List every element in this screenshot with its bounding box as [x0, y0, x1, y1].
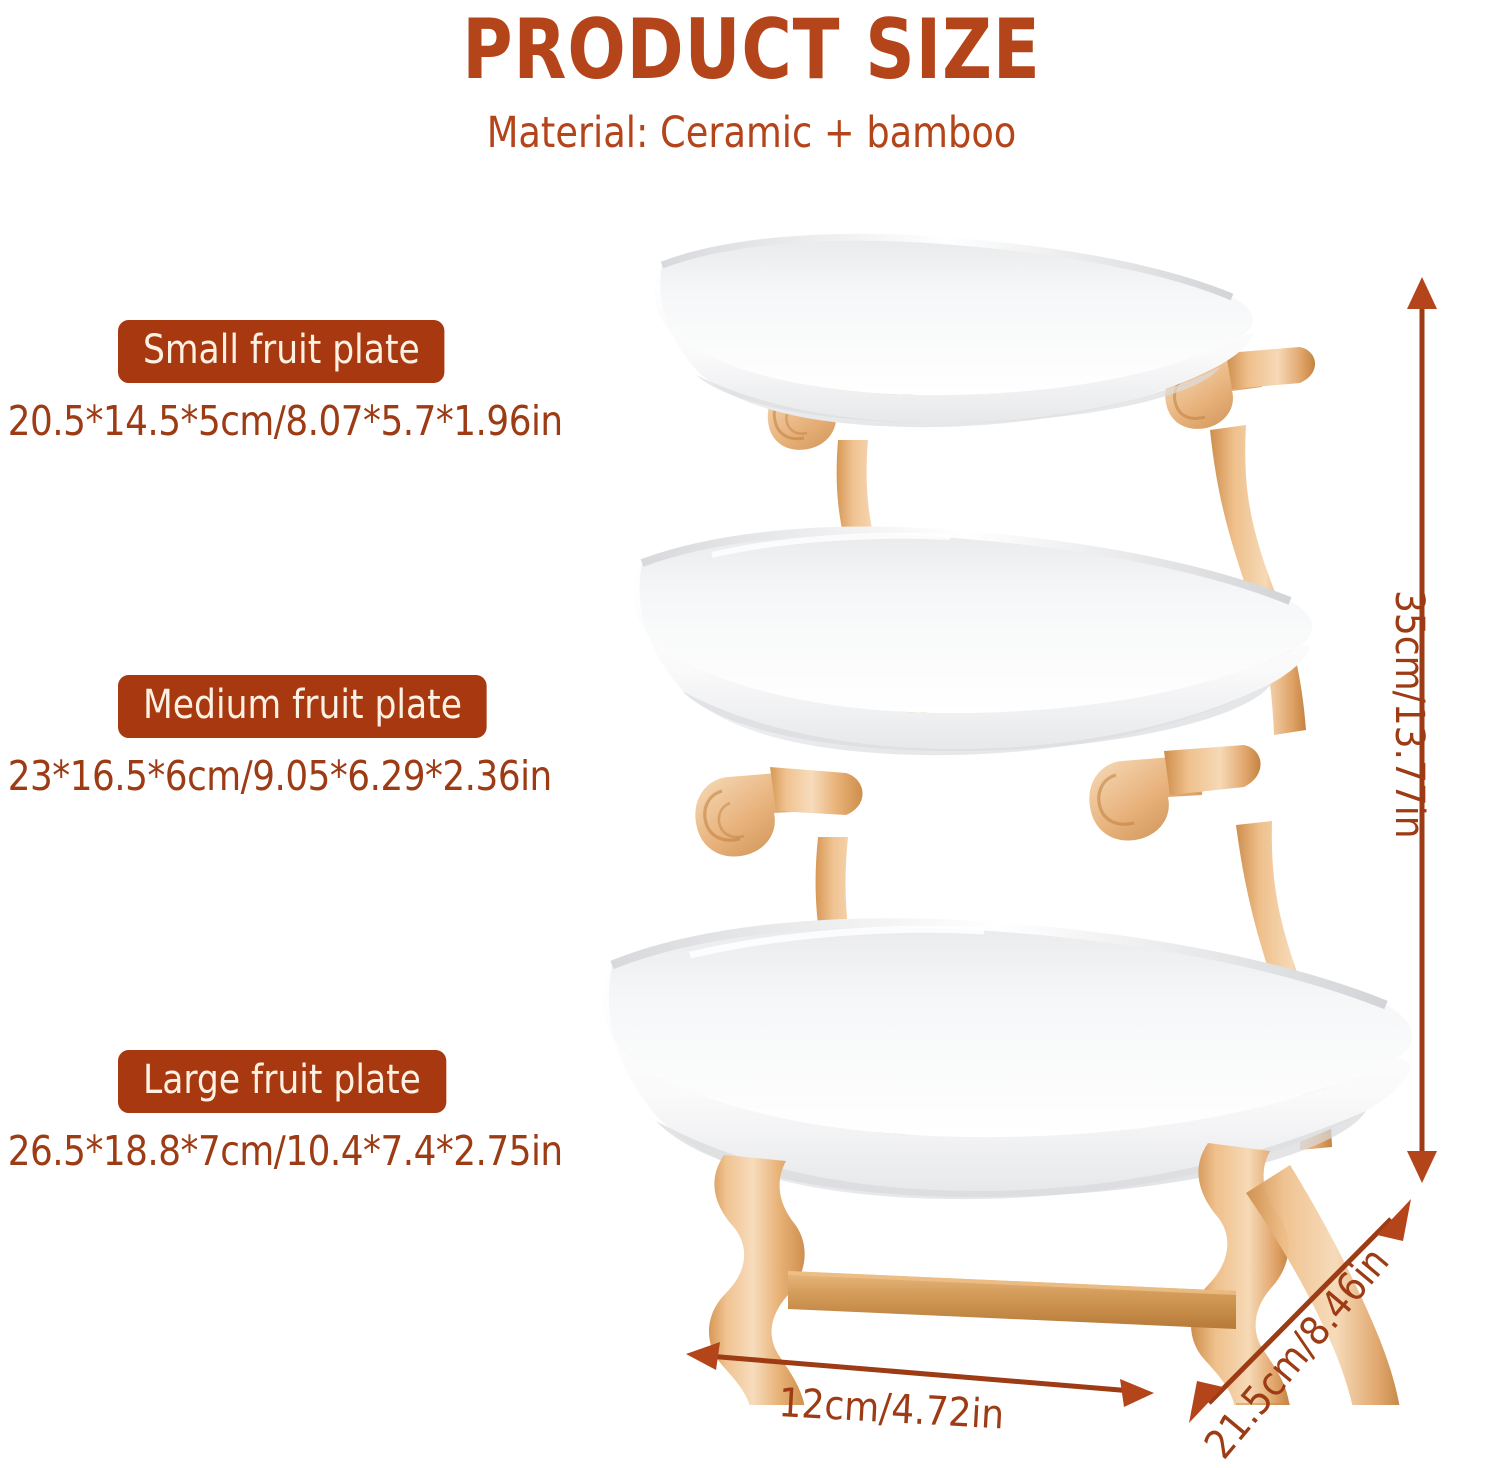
spec-small: Small fruit plate 20.5*14.5*5cm/8.07*5.7…	[0, 320, 580, 445]
badge-large-fruit-plate: Large fruit plate	[118, 1050, 446, 1113]
height-arrowhead-bottom	[1407, 1151, 1437, 1183]
dimensions-medium: 23*16.5*6cm/9.05*6.29*2.36in	[0, 752, 552, 800]
tier-medium	[634, 531, 1312, 857]
arm-bar-top-right	[1226, 347, 1315, 389]
arm-mid-right	[1089, 745, 1260, 841]
width-arrow-line	[708, 1356, 1132, 1391]
depth-arrowhead-upper	[1377, 1199, 1411, 1241]
infographic-canvas: PRODUCT SIZE Material: Ceramic + bamboo …	[0, 0, 1503, 1456]
arm-bar-mid-right	[1164, 745, 1261, 795]
badge-small-fruit-plate: Small fruit plate	[118, 320, 445, 383]
material-subtitle: Material: Ceramic + bamboo	[38, 108, 1466, 158]
page-title: PRODUCT SIZE	[60, 8, 1443, 91]
tier-small	[655, 237, 1315, 450]
dimension-arrow-depth	[1175, 1185, 1425, 1435]
cross-rail	[788, 1271, 1236, 1329]
height-arrowhead-top	[1407, 277, 1437, 309]
badge-row-medium: Medium fruit plate	[0, 675, 569, 738]
badge-row-large: Large fruit plate	[0, 1050, 580, 1113]
width-arrowhead-left	[686, 1342, 720, 1370]
dimensions-small: 20.5*14.5*5cm/8.07*5.7*1.96in	[0, 397, 563, 445]
spec-medium: Medium fruit plate 23*16.5*6cm/9.05*6.29…	[0, 675, 569, 800]
width-arrowhead-right	[1120, 1379, 1154, 1407]
badge-row-small: Small fruit plate	[0, 320, 580, 383]
arm-bar-mid-left	[770, 767, 863, 815]
badge-medium-fruit-plate: Medium fruit plate	[118, 675, 487, 738]
dimensions-large: 26.5*18.8*7cm/10.4*7.4*2.75in	[0, 1127, 563, 1175]
dimension-label-height: 35cm/13.77in	[1386, 590, 1432, 839]
spec-large: Large fruit plate 26.5*18.8*7cm/10.4*7.4…	[0, 1050, 580, 1175]
